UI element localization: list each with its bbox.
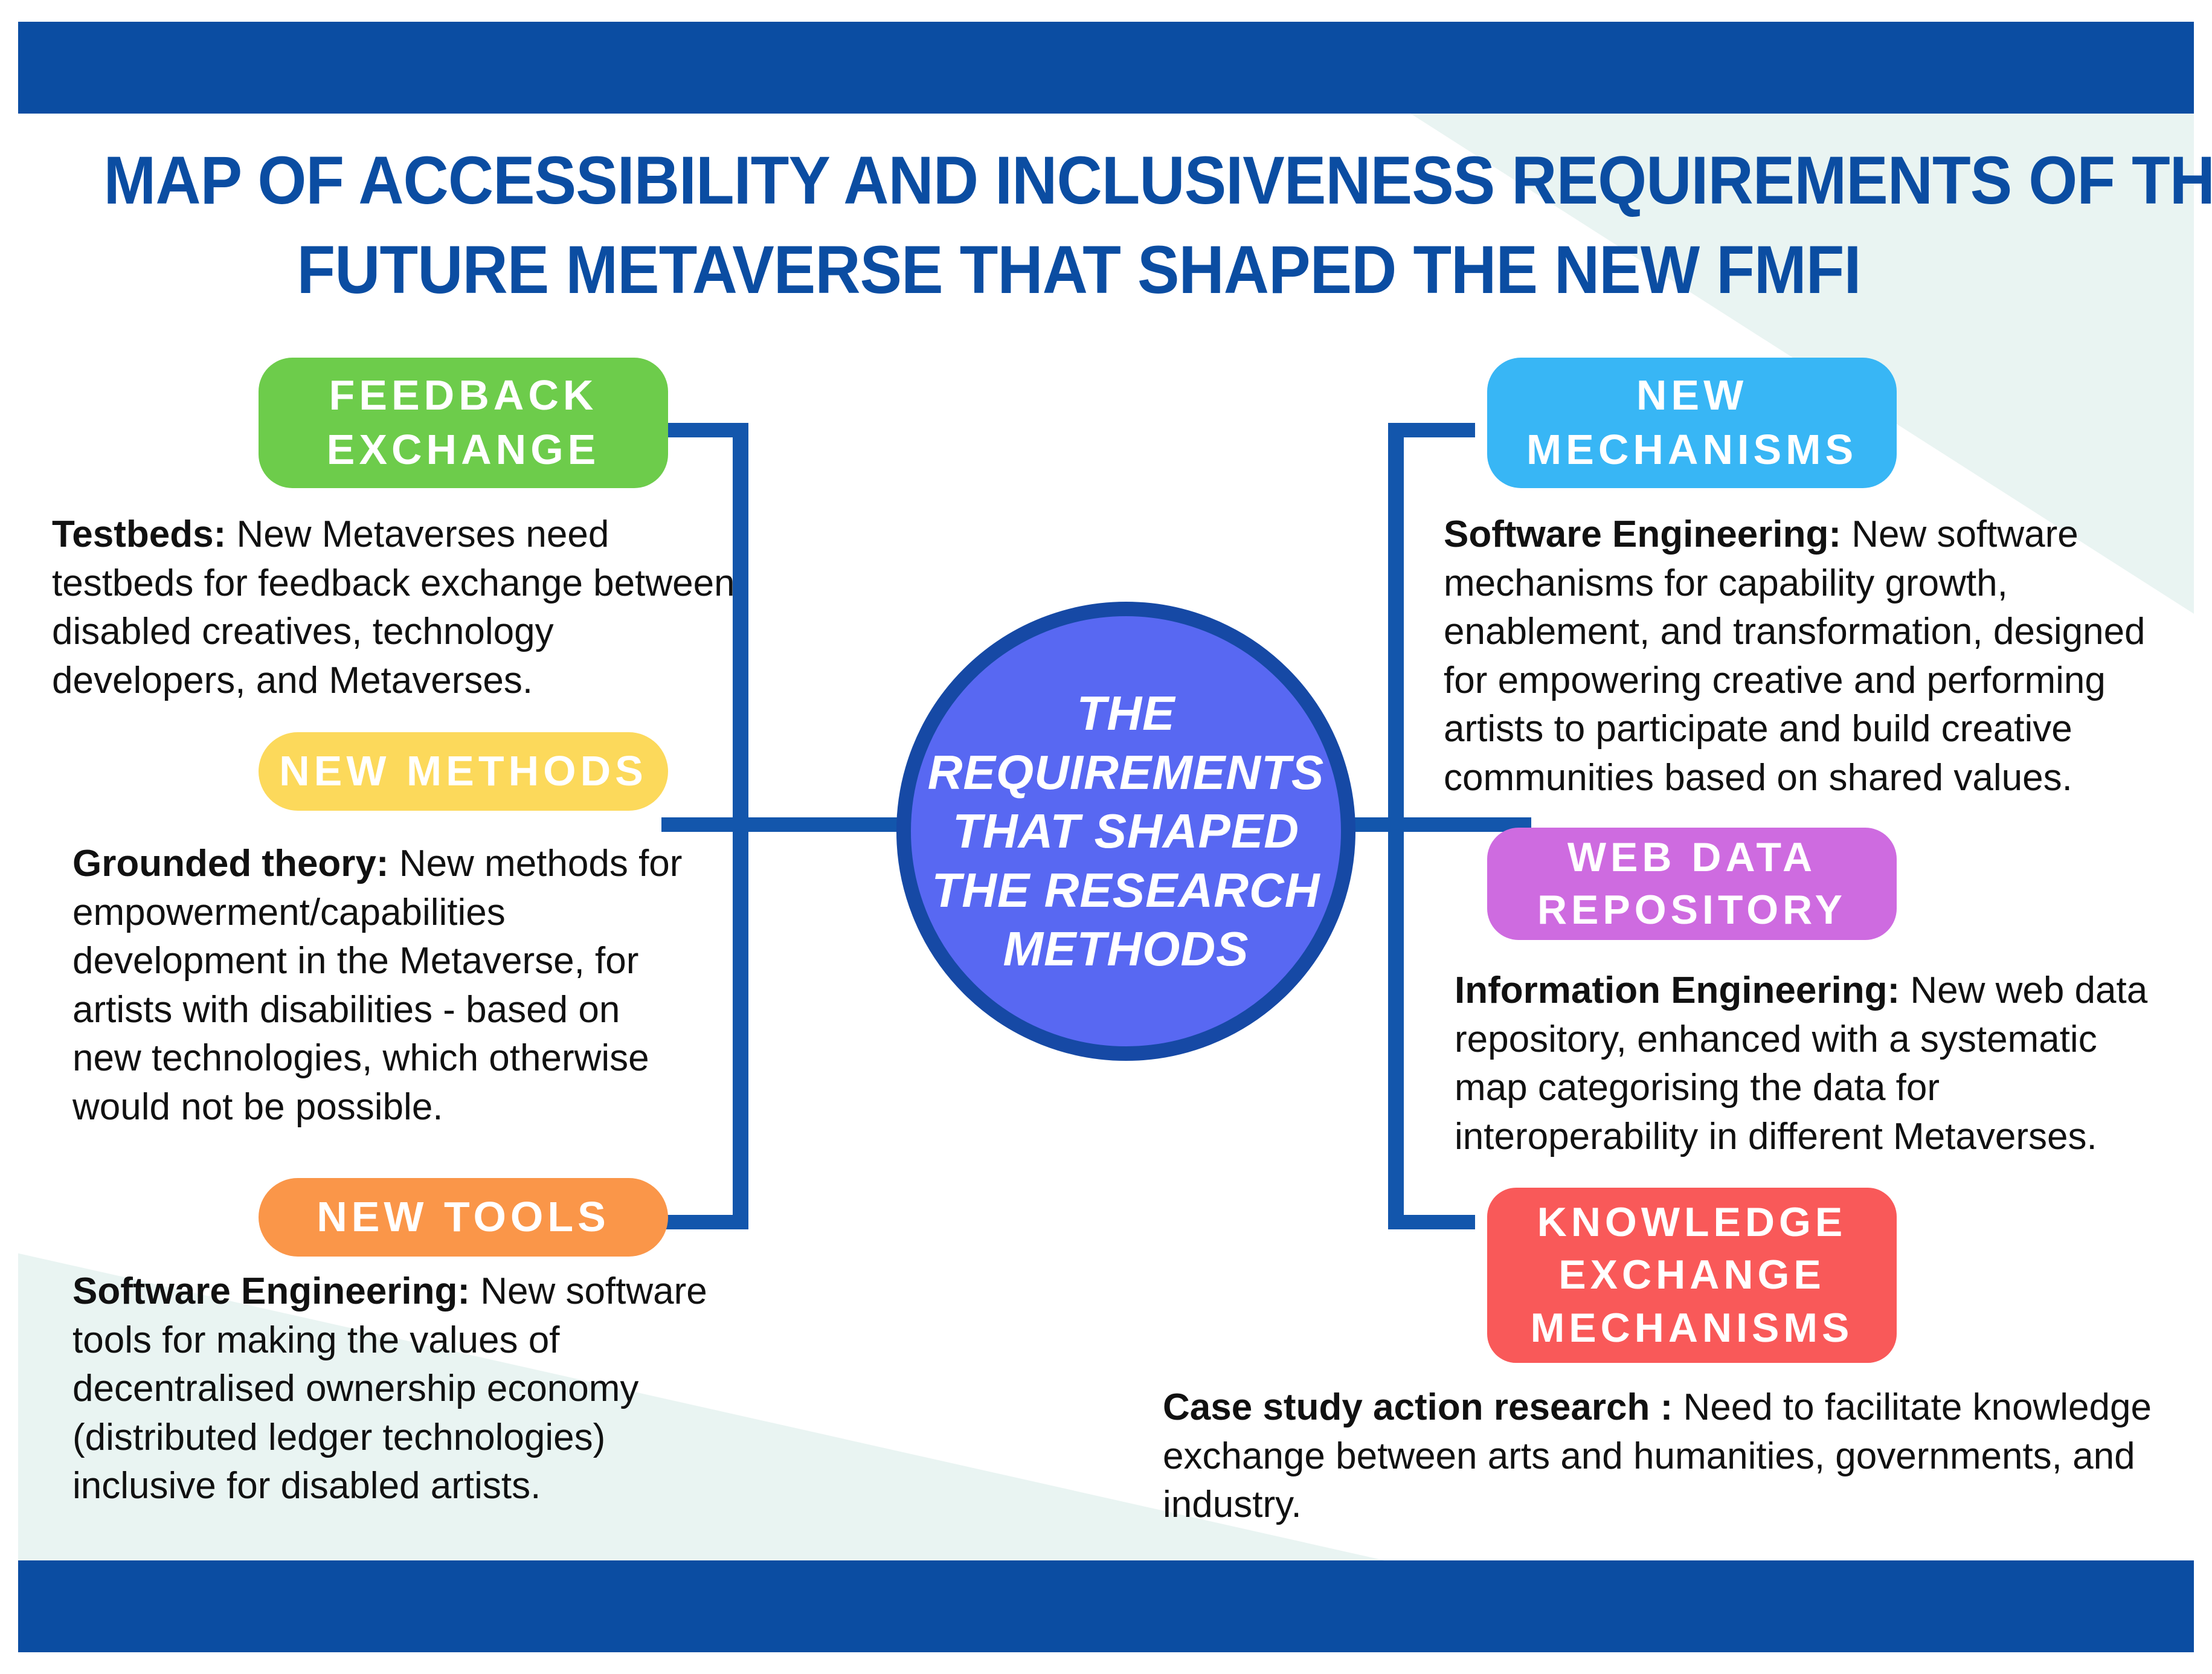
connector-right-middle-to-center — [1332, 817, 1531, 832]
paragraph-new-mechanisms-body: New software mechanisms for capability g… — [1444, 513, 2146, 799]
node-new-methods[interactable]: NEW METHODS — [259, 732, 668, 811]
node-web-data-repository-label: WEB DATA REPOSITORY — [1487, 831, 1897, 936]
paragraph-web-data-repository-lead: Information Engineering: — [1455, 970, 1900, 1011]
paragraph-new-tools-lead: Software Engineering: — [72, 1270, 470, 1312]
node-new-methods-label: NEW METHODS — [279, 744, 648, 799]
node-new-tools-label: NEW TOOLS — [317, 1190, 610, 1244]
paragraph-new-methods-body: New methods for empowerment/capabilities… — [72, 843, 682, 1128]
paragraph-web-data-repository: Information Engineering: New web data re… — [1455, 967, 2170, 1161]
node-knowledge-exchange-mechanisms-label: KNOWLEDGE EXCHANGE MECHANISMS — [1487, 1196, 1897, 1354]
paragraph-new-methods-lead: Grounded theory: — [72, 843, 389, 884]
page-title: MAP OF ACCESSIBILITY AND INCLUSIVENESS R… — [104, 136, 2054, 315]
node-feedback-exchange[interactable]: FEEDBACK EXCHANGE — [259, 358, 668, 488]
center-node-label: THE REQUIREMENTS THAT SHAPED THE RESEARC… — [911, 684, 1341, 979]
connector-left-bottom-stub — [661, 1215, 748, 1229]
paragraph-new-methods: Grounded theory: New methods for empower… — [72, 840, 683, 1132]
paragraph-new-mechanisms: Software Engineering: New software mecha… — [1444, 510, 2172, 803]
paragraph-new-mechanisms-lead: Software Engineering: — [1444, 513, 1841, 555]
paragraph-knowledge-exchange-mechanisms: Case study action research : Need to fac… — [1163, 1383, 2165, 1530]
connector-right-top-stub — [1388, 423, 1475, 437]
node-new-mechanisms[interactable]: NEW MECHANISMS — [1487, 358, 1897, 488]
paragraph-knowledge-exchange-mechanisms-lead: Case study action research : — [1163, 1386, 1673, 1428]
mindmap-poster: MAP OF ACCESSIBILITY AND INCLUSIVENESS R… — [0, 0, 2212, 1674]
bottom-banner-bar — [18, 1560, 2194, 1652]
page-title-line-2: FUTURE METAVERSE THAT SHAPED THE NEW FMF… — [104, 225, 2054, 315]
top-banner-bar — [18, 22, 2194, 114]
connector-left-top-stub — [661, 423, 748, 437]
node-feedback-exchange-label: FEEDBACK EXCHANGE — [259, 369, 668, 477]
paragraph-new-tools: Software Engineering: New software tools… — [72, 1267, 722, 1511]
node-knowledge-exchange-mechanisms[interactable]: KNOWLEDGE EXCHANGE MECHANISMS — [1487, 1188, 1897, 1363]
connector-left-middle-to-center — [661, 817, 921, 832]
connector-right-bottom-stub — [1388, 1215, 1475, 1229]
paragraph-feedback-exchange: Testbeds: New Metaverses need testbeds f… — [52, 510, 738, 705]
center-node[interactable]: THE REQUIREMENTS THAT SHAPED THE RESEARC… — [896, 602, 1355, 1061]
node-new-tools[interactable]: NEW TOOLS — [259, 1178, 668, 1257]
paragraph-feedback-exchange-lead: Testbeds: — [52, 513, 226, 555]
page-title-line-1: MAP OF ACCESSIBILITY AND INCLUSIVENESS R… — [104, 136, 2054, 225]
node-web-data-repository[interactable]: WEB DATA REPOSITORY — [1487, 828, 1897, 940]
node-new-mechanisms-label: NEW MECHANISMS — [1487, 369, 1897, 477]
